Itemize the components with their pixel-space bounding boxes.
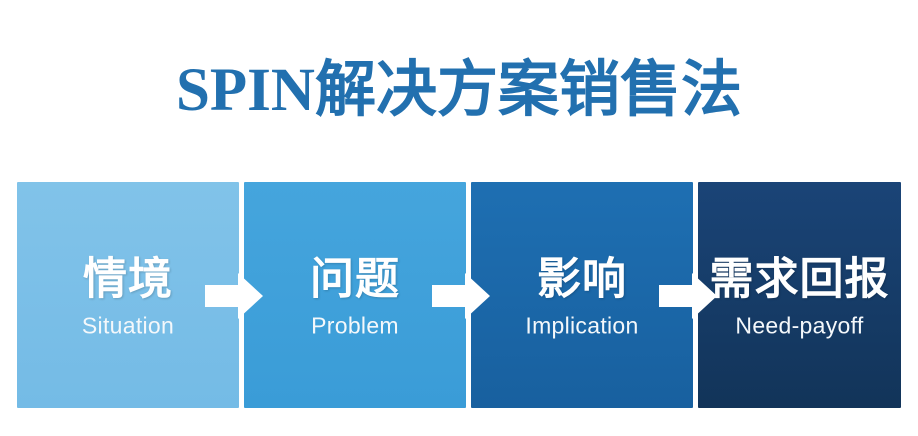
stage-text-group: 情境 Situation	[17, 251, 239, 340]
stage-text-group: 需求回报 Need-payoff	[698, 251, 901, 340]
stage-card-implication[interactable]: 影响 Implication	[471, 182, 693, 408]
stage-text-group: 影响 Implication	[471, 251, 693, 340]
stage-card-situation[interactable]: 情境 Situation	[17, 182, 239, 408]
page-title: SPIN解决方案销售法	[176, 55, 742, 127]
title-container: SPIN解决方案销售法	[0, 14, 918, 168]
process-flow-row: 情境 Situation 问题 Problem 影响 Implication 需…	[17, 182, 901, 408]
stage-card-need-payoff[interactable]: 需求回报 Need-payoff	[698, 182, 901, 408]
stage-label-cn: 情境	[17, 255, 239, 305]
stage-label-en: Implication	[471, 312, 693, 340]
stage-label-en: Problem	[244, 312, 466, 340]
stage-card-problem[interactable]: 问题 Problem	[244, 182, 466, 408]
stage-text-group: 问题 Problem	[244, 251, 466, 340]
stage-label-cn: 影响	[471, 255, 693, 305]
stage-label-cn: 需求回报	[698, 255, 901, 305]
stage-label-cn: 问题	[244, 255, 466, 305]
stage-label-en: Situation	[17, 312, 239, 340]
infographic-canvas: SPIN解决方案销售法 情境 Situation 问题 Problem 影响 I…	[0, 0, 918, 436]
stage-label-en: Need-payoff	[698, 312, 901, 340]
